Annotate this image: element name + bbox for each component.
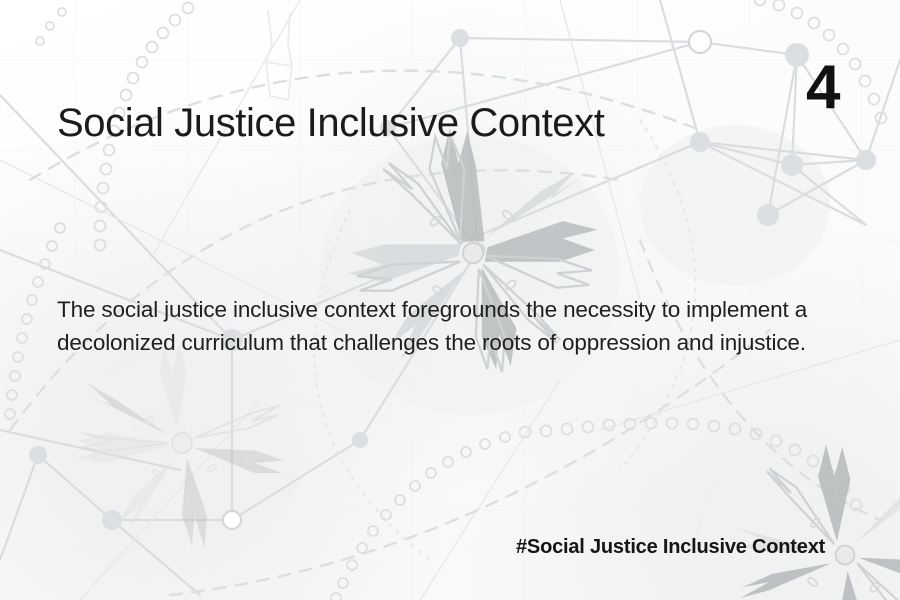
slide-canvas: Social Justice Inclusive Context 4 The s… [0, 0, 900, 600]
hashtag-footer: #Social Justice Inclusive Context [516, 536, 825, 559]
slide-number: 4 [806, 57, 839, 119]
page-title: Social Justice Inclusive Context [57, 101, 604, 146]
body-paragraph: The social justice inclusive context for… [57, 293, 827, 359]
